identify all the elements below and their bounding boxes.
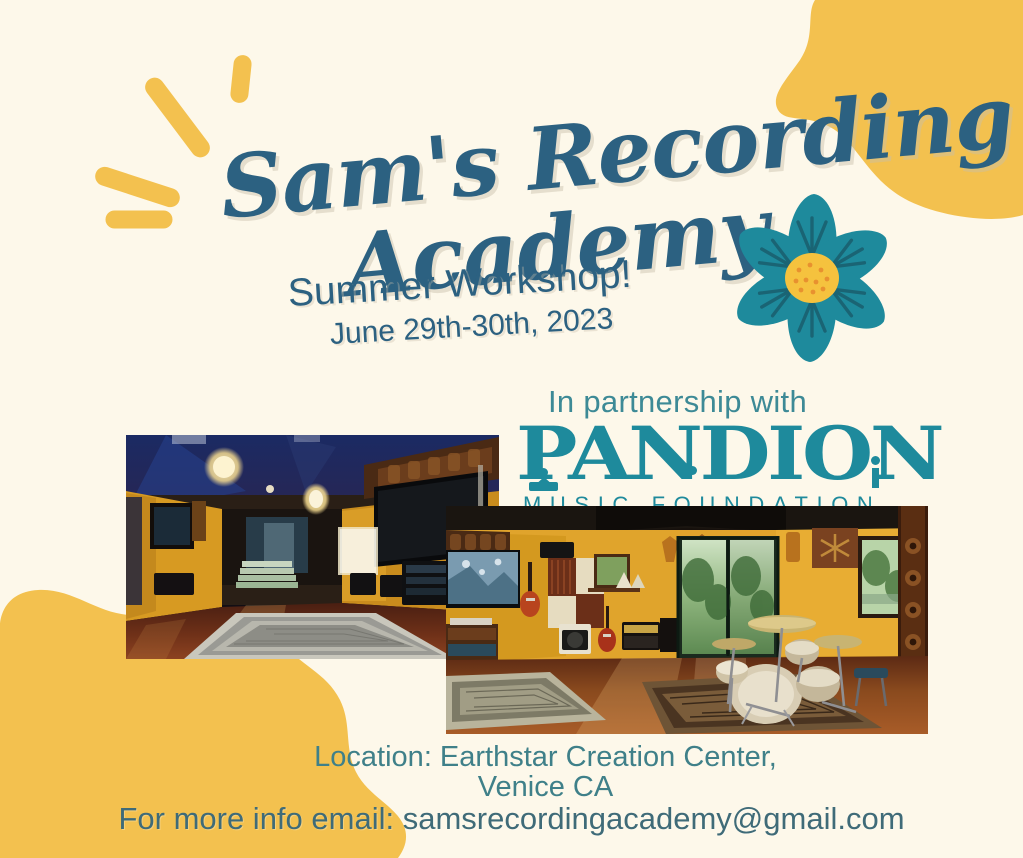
pandion-logo: PANDION MUSIC FOUNDATION	[516, 418, 886, 510]
flower-icon	[712, 190, 912, 365]
live-room-photo	[446, 506, 928, 734]
sunburst-ray-icon	[141, 74, 213, 161]
contact-email-text: For more info email: samsrecordingacadem…	[0, 801, 1023, 837]
logo-base-icon	[529, 482, 558, 491]
location-line-2: Venice CA	[478, 771, 613, 803]
location-line-1: Location: Earthstar Creation Center,	[314, 741, 777, 773]
logo-dot-icon	[539, 468, 548, 477]
sunburst-ray-icon	[106, 211, 173, 229]
logo-dot-icon	[871, 456, 880, 465]
logo-tick-icon	[872, 468, 879, 488]
poster-canvas: Sam's Recording Academy Summer Workshop!…	[0, 0, 1023, 858]
logo-dot-icon	[688, 466, 697, 475]
location-text: Location: Earthstar Creation Center, Ven…	[0, 742, 1023, 802]
studio-lounge-photo	[126, 435, 499, 659]
sunburst-ray-icon	[93, 164, 183, 209]
